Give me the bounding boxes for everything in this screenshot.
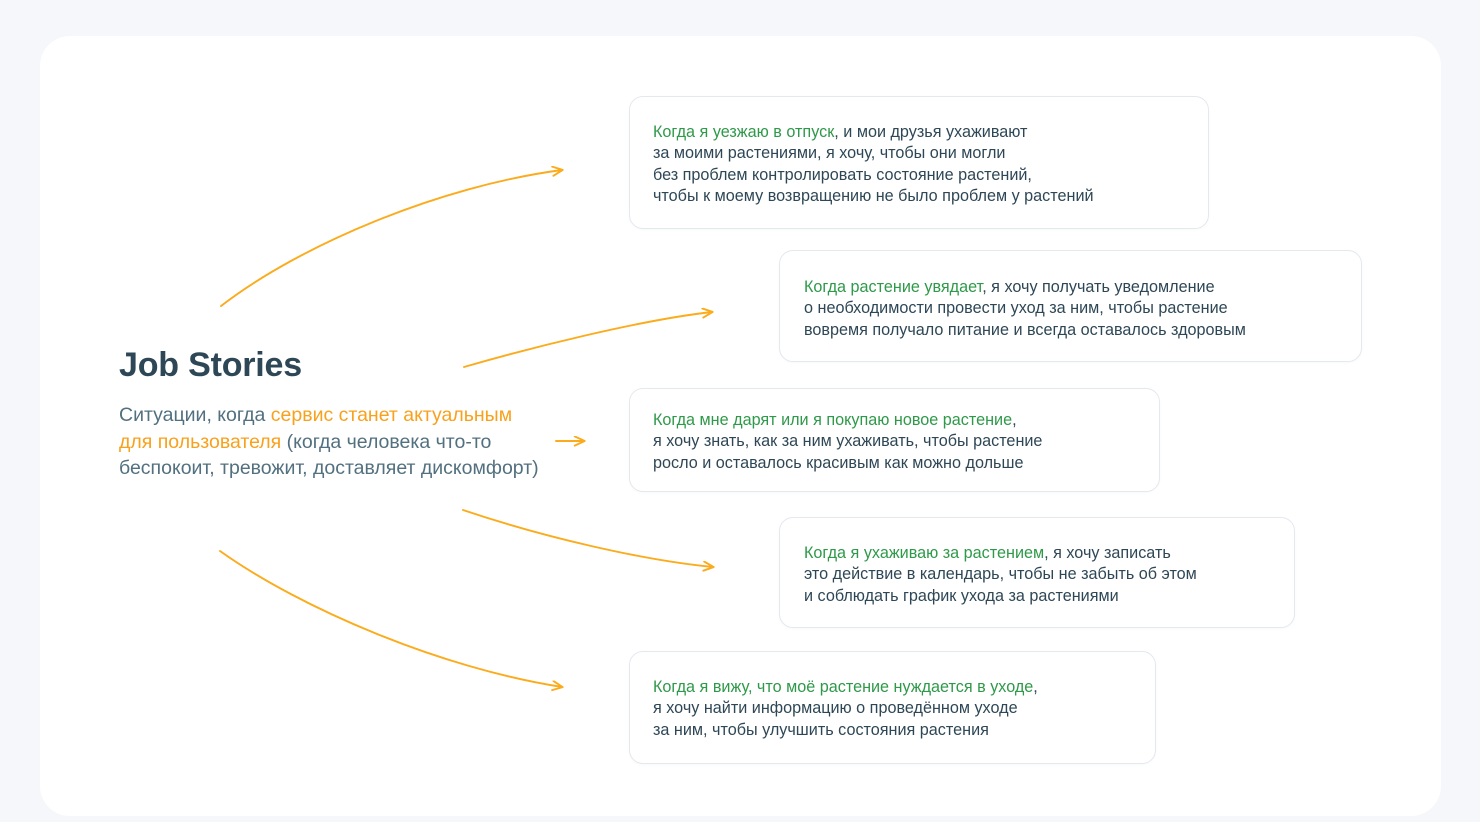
job-story-text: Когда я ухаживаю за растением, я хочу за… [804,543,1197,607]
job-story-card[interactable]: Когда я ухаживаю за растением, я хочу за… [779,517,1295,628]
job-story-text: Когда мне дарят или я покупаю новое раст… [653,410,1042,474]
page-subtitle: Ситуации, когда сервис станет актуальным… [119,402,544,482]
job-story-lead: Когда мне дарят или я покупаю новое раст… [653,411,1012,429]
job-story-lead: Когда я ухаживаю за растением [804,544,1044,562]
page-root: Job Stories Ситуации, когда сервис стане… [0,0,1480,822]
job-story-lead: Когда растение увядает [804,278,982,296]
job-story-lead: Когда я вижу, что моё растение нуждается… [653,678,1033,696]
page-title: Job Stories [119,345,559,385]
subtitle-part-1: Ситуации, когда [119,404,271,426]
job-story-text: Когда растение увядает, я хочу получать … [804,277,1246,341]
job-story-text: Когда я уезжаю в отпуск, и мои друзья ух… [653,122,1094,208]
job-story-text: Когда я вижу, что моё растение нуждается… [653,677,1038,741]
job-story-lead: Когда я уезжаю в отпуск [653,123,834,141]
job-story-card[interactable]: Когда я вижу, что моё растение нуждается… [629,651,1156,764]
job-story-card[interactable]: Когда растение увядает, я хочу получать … [779,250,1362,362]
job-story-card[interactable]: Когда я уезжаю в отпуск, и мои друзья ух… [629,96,1209,229]
title-block: Job Stories Ситуации, когда сервис стане… [119,345,559,482]
job-story-card[interactable]: Когда мне дарят или я покупаю новое раст… [629,388,1160,492]
